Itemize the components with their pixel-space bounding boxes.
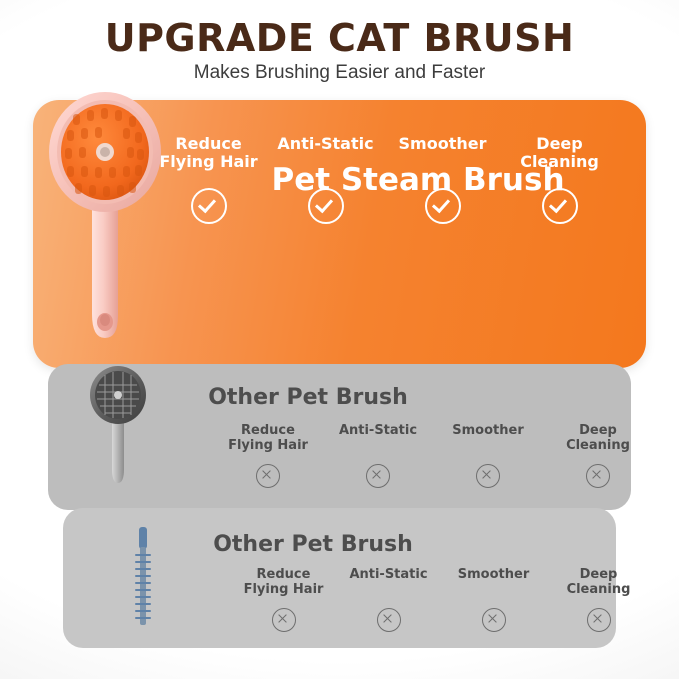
feature-anti-static: Anti-Static xyxy=(336,568,441,632)
feature-row-other-pet-brush-1: Reduce Flying Hair Anti-Static Smoother … xyxy=(213,424,653,488)
feature-smoother: Smoother xyxy=(441,568,546,632)
feature-anti-static: Anti-Static xyxy=(267,135,384,224)
check-circle-icon xyxy=(542,188,578,224)
check-circle-icon xyxy=(308,188,344,224)
page-subtitle: Makes Brushing Easier and Faster xyxy=(0,62,679,84)
feature-row-pet-steam-brush: Reduce Flying Hair Anti-Static Smoother … xyxy=(150,135,620,224)
cross-circle-icon xyxy=(366,464,390,488)
cross-circle-icon xyxy=(377,608,401,632)
feature-label: Anti-Static xyxy=(349,568,427,600)
cross-circle-icon xyxy=(586,464,610,488)
feature-label: Smoother xyxy=(399,135,487,175)
grey-slicker-brush-product-icon xyxy=(83,365,153,490)
feature-deep-cleaning: Deep Cleaning xyxy=(543,424,653,488)
pink-steam-brush-product-icon xyxy=(43,86,183,346)
feature-label: Reduce Flying Hair xyxy=(244,568,324,600)
feature-reduce-flying-hair: Reduce Flying Hair xyxy=(213,424,323,488)
feature-label: Anti-Static xyxy=(277,135,373,175)
feature-deep-cleaning: Deep Cleaning xyxy=(501,135,618,224)
feature-label: Reduce Flying Hair xyxy=(228,424,308,456)
feature-smoother: Smoother xyxy=(433,424,543,488)
product-infographic: UPGRADE CAT BRUSH Makes Brushing Easier … xyxy=(0,0,679,679)
cross-circle-icon xyxy=(482,608,506,632)
feature-label: Deep Cleaning xyxy=(566,424,630,456)
cross-circle-icon xyxy=(476,464,500,488)
feature-label: Deep Cleaning xyxy=(567,568,631,600)
feature-label: Smoother xyxy=(458,568,529,600)
feature-row-other-pet-brush-2: Reduce Flying Hair Anti-Static Smoother … xyxy=(231,568,651,632)
feature-label: Smoother xyxy=(452,424,523,456)
metal-comb-product-icon xyxy=(128,525,158,630)
feature-reduce-flying-hair: Reduce Flying Hair xyxy=(231,568,336,632)
page-title: UPGRADE CAT BRUSH xyxy=(0,16,679,60)
check-circle-icon xyxy=(191,188,227,224)
feature-label: Anti-Static xyxy=(339,424,417,456)
cross-circle-icon xyxy=(587,608,611,632)
cross-circle-icon xyxy=(256,464,280,488)
feature-deep-cleaning: Deep Cleaning xyxy=(546,568,651,632)
check-circle-icon xyxy=(425,188,461,224)
feature-label: Deep Cleaning xyxy=(520,135,599,175)
feature-anti-static: Anti-Static xyxy=(323,424,433,488)
cross-circle-icon xyxy=(272,608,296,632)
feature-smoother: Smoother xyxy=(384,135,501,224)
